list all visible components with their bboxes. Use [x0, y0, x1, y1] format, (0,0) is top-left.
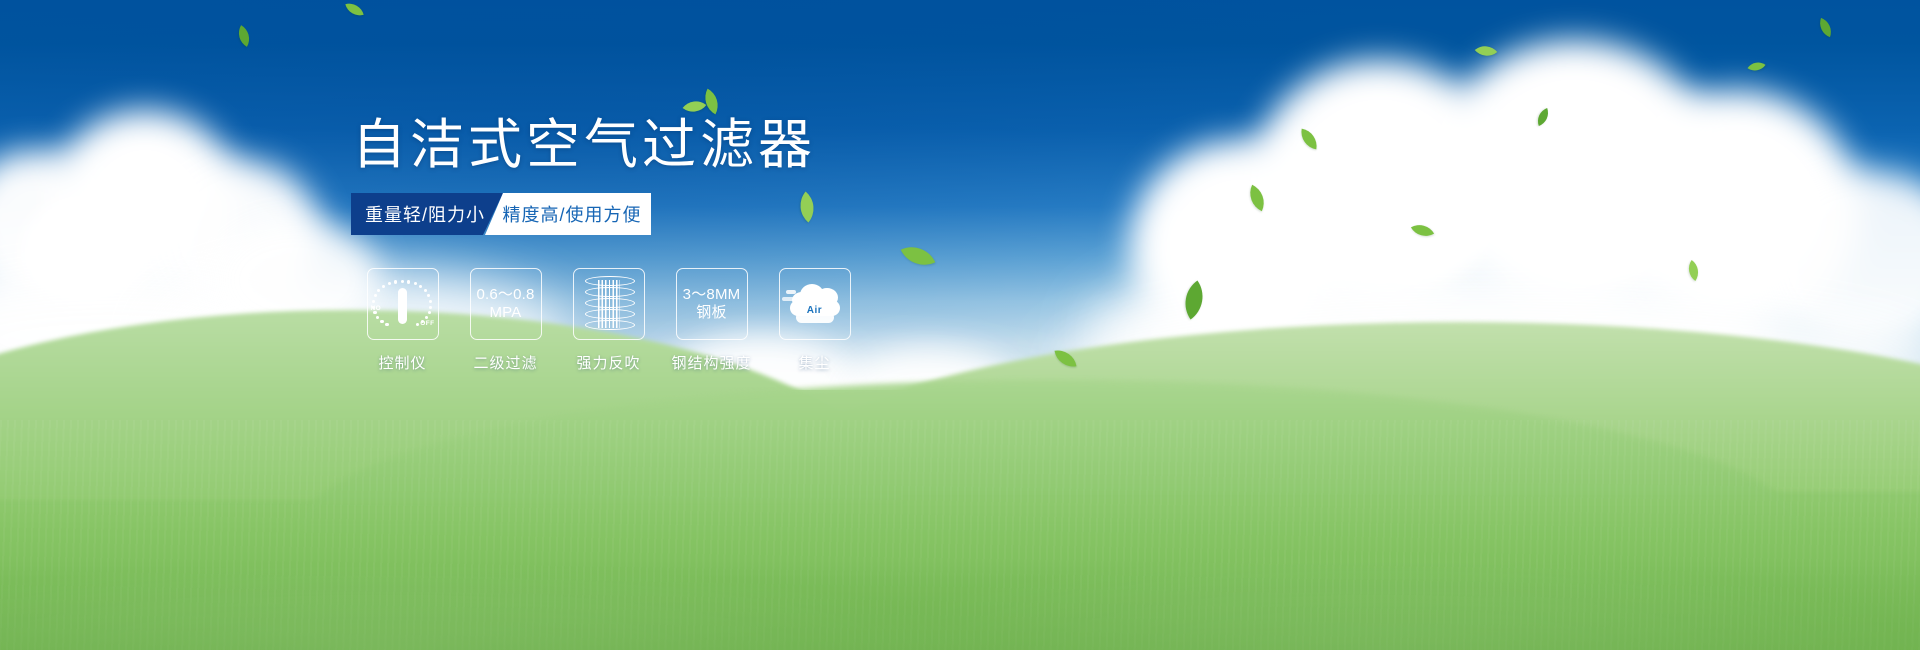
feature-card: 0.6～0.8 MPA [470, 268, 542, 340]
feature-label: 强力反吹 [576, 352, 640, 373]
feature-item-pressure[interactable]: 0.6～0.8 MPA 二级过滤 [454, 268, 557, 373]
feature-label: 控制仪 [378, 352, 426, 373]
dial-label-off: OFF [420, 320, 434, 327]
tab-lightweight-lowresistance[interactable]: 重量轻/阻力小 [351, 193, 503, 235]
control-dial-icon: NO OFF [372, 275, 434, 333]
feature-label: 二级过滤 [473, 352, 537, 373]
hero-banner: 自洁式空气过滤器 重量轻/阻力小 精度高/使用方便 [0, 0, 1920, 650]
feature-label: 集尘 [798, 352, 830, 373]
steel-plate-text-icon: 3～8MM 钢板 [683, 286, 741, 322]
air-cloud-icon: Air [788, 282, 842, 326]
pressure-text-icon: 0.6～0.8 MPA [476, 286, 534, 322]
tab-label: 精度高/使用方便 [503, 201, 642, 227]
dial-label-on: NO [371, 305, 382, 312]
feature-card: NO OFF [367, 268, 439, 340]
feature-item-backblow[interactable]: 强力反吹 [557, 268, 660, 373]
feature-card: 3～8MM 钢板 [676, 268, 748, 340]
feature-item-steel[interactable]: 3～8MM 钢板 钢结构强度 [660, 268, 763, 373]
tab-precision-easyuse[interactable]: 精度高/使用方便 [485, 193, 651, 235]
pleated-filter-icon [585, 276, 633, 332]
feature-item-controller[interactable]: NO OFF 控制仪 [351, 268, 454, 373]
feature-icon-row: NO OFF 控制仪 0.6～0.8 MPA 二级过滤 [351, 268, 866, 373]
feature-card: Air [779, 268, 851, 340]
feature-card [573, 268, 645, 340]
tab-label: 重量轻/阻力小 [365, 201, 485, 227]
feature-item-dustcollect[interactable]: Air 集尘 [763, 268, 866, 373]
banner-content: 自洁式空气过滤器 重量轻/阻力小 精度高/使用方便 [0, 0, 1920, 650]
air-cloud-label: Air [788, 305, 842, 316]
feature-label: 钢结构强度 [671, 352, 751, 373]
feature-tabs: 重量轻/阻力小 精度高/使用方便 [351, 193, 651, 235]
page-title: 自洁式空气过滤器 [352, 113, 816, 177]
